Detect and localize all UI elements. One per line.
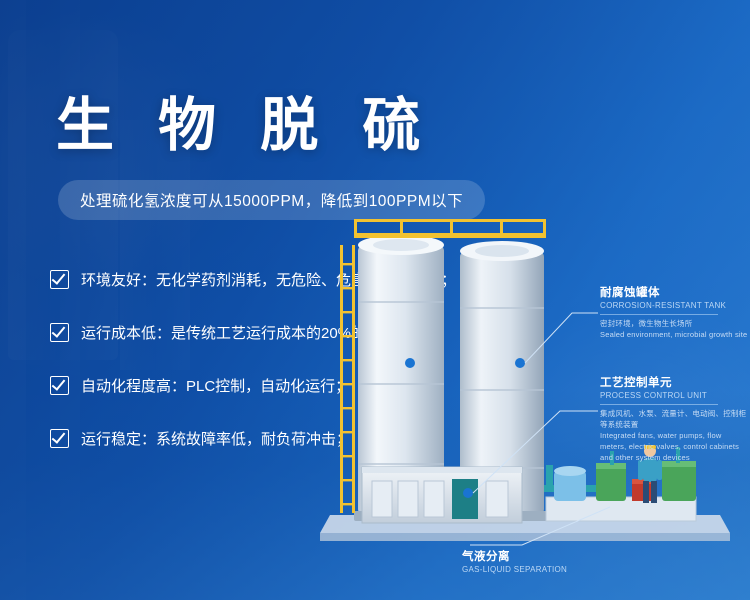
annotation-title-cn: 气液分离 bbox=[462, 548, 567, 564]
annotation-desc-cn: 密封环境，微生物生长场所 bbox=[600, 319, 747, 330]
callout-dot-tank bbox=[405, 358, 415, 368]
annotation-title-en: GAS-LIQUID SEPARATION bbox=[462, 565, 567, 574]
callout-dot-tank-2 bbox=[515, 358, 525, 368]
subtitle-text: 处理硫化氢浓度可从15000PPM，降低到100PPM以下 bbox=[80, 189, 463, 211]
check-icon bbox=[50, 429, 69, 448]
ladder bbox=[340, 245, 355, 513]
annotation-corrosion-resistant-tank: 耐腐蚀罐体 CORROSION-RESISTANT TANK 密封环境，微生物生… bbox=[600, 284, 747, 341]
poster: 生 物 脱 硫 处理硫化氢浓度可从15000PPM，降低到100PPM以下 环境… bbox=[0, 0, 750, 600]
annotation-divider bbox=[600, 404, 718, 405]
check-icon bbox=[50, 376, 69, 395]
annotation-title-en: PROCESS CONTROL UNIT bbox=[600, 391, 750, 400]
check-icon bbox=[50, 323, 69, 342]
subtitle-banner: 处理硫化氢浓度可从15000PPM，降低到100PPM以下 bbox=[58, 180, 485, 220]
annotation-desc-en: Sealed environment, microbial growth sit… bbox=[600, 330, 747, 341]
annotation-desc-en: Integrated fans, water pumps, flow meter… bbox=[600, 431, 750, 464]
annotation-title-cn: 工艺控制单元 bbox=[600, 374, 750, 390]
control-cabinet bbox=[362, 467, 522, 523]
annotation-process-control-unit: 工艺控制单元 PROCESS CONTROL UNIT 集成风机、水泵、流量计、… bbox=[600, 374, 750, 463]
annotation-title-en: CORROSION-RESISTANT TANK bbox=[600, 301, 747, 310]
annotation-title-cn: 耐腐蚀罐体 bbox=[600, 284, 747, 300]
walkway-railing bbox=[354, 219, 546, 238]
check-icon bbox=[50, 270, 69, 289]
page-title: 生 物 脱 硫 bbox=[56, 78, 434, 162]
annotation-gas-liquid-separation: 气液分离 GAS-LIQUID SEPARATION bbox=[462, 548, 567, 574]
annotation-desc-cn: 集成风机、水泵、流量计、电动阀、控制柜等系统装置 bbox=[600, 409, 750, 431]
annotation-divider bbox=[600, 314, 718, 315]
callout-dot-control bbox=[463, 488, 473, 498]
